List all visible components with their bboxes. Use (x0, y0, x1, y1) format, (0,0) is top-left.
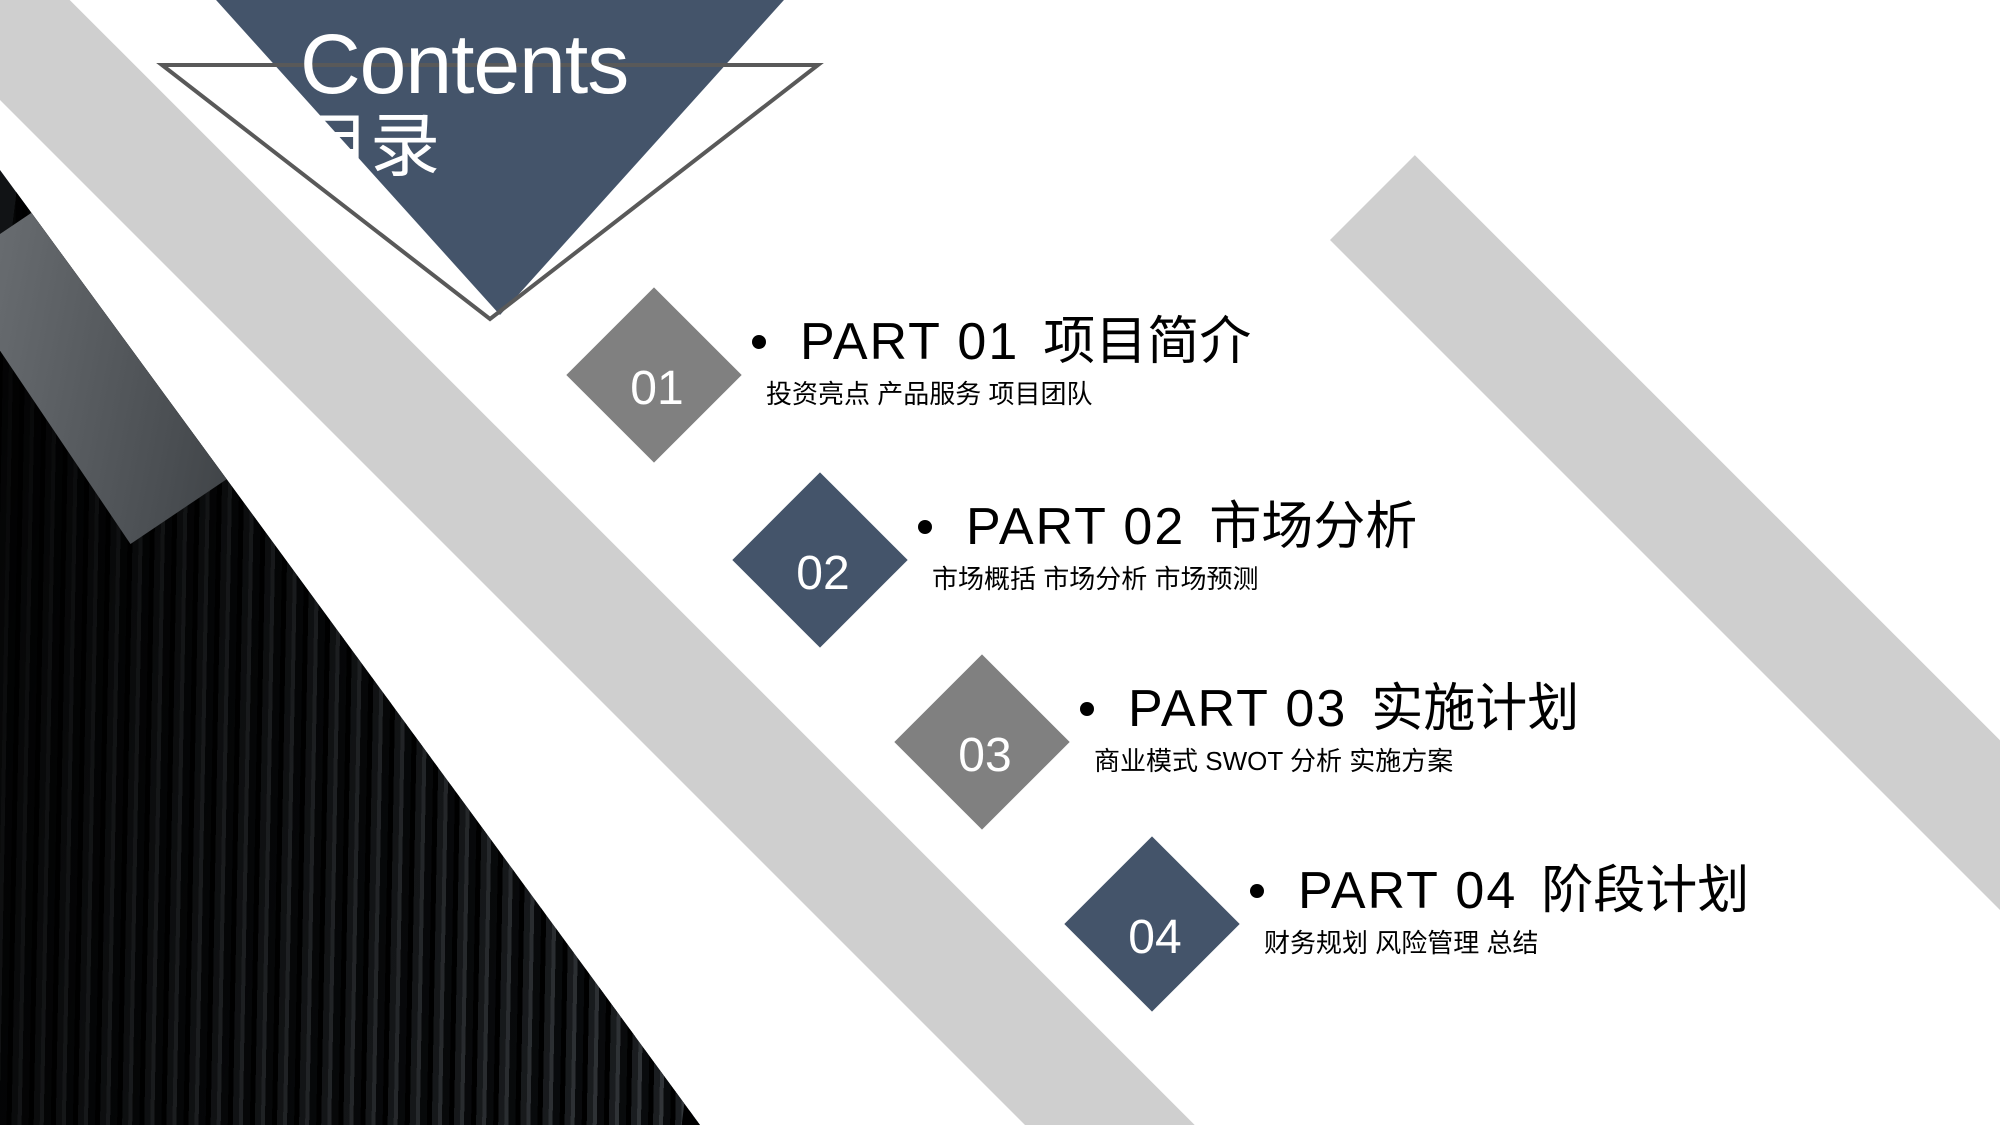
diamond-number-label: 03 (920, 680, 1044, 804)
part-label-03: PART 03 (1128, 680, 1347, 738)
part-label-04: PART 04 (1298, 862, 1517, 920)
content-row-2-subitems: 市场概括 市场分析 市场预测 (932, 562, 1417, 596)
number-diamond-04[interactable]: 04 (1064, 836, 1239, 1011)
content-row-1-title: PART 01 项目简介 (752, 313, 1251, 371)
number-diamond-01[interactable]: 01 (566, 287, 741, 462)
content-row-1-text: PART 01 项目简介 投资亮点 产品服务 项目团队 (752, 313, 1251, 411)
part-heading-cn-02: 市场分析 (1209, 498, 1417, 556)
slide-heading: Contents 目录 (300, 16, 860, 186)
presentation-slide: Contents 目录 01 PART 01 项目简介 投资亮点 产品服务 项目… (0, 0, 2000, 1125)
bullet-icon (1250, 884, 1264, 898)
bullet-icon (1080, 702, 1094, 716)
content-row-2[interactable]: 02 PART 02 市场分析 市场概括 市场分析 市场预测 (758, 498, 1417, 622)
part-heading-cn-04: 阶段计划 (1541, 862, 1749, 920)
content-row-4-title: PART 04 阶段计划 (1250, 862, 1749, 920)
part-label-02: PART 02 (966, 498, 1185, 556)
page-title-cn: 目录 (300, 106, 860, 186)
content-row-3[interactable]: 03 PART 03 实施计划 商业模式 SWOT 分析 实施方案 (920, 680, 1579, 804)
content-row-1[interactable]: 01 PART 01 项目简介 投资亮点 产品服务 项目团队 (592, 313, 1251, 437)
content-row-2-text: PART 02 市场分析 市场概括 市场分析 市场预测 (918, 498, 1417, 596)
number-diamond-03[interactable]: 03 (894, 654, 1069, 829)
diamond-number-label: 02 (758, 498, 882, 622)
part-heading-cn-03: 实施计划 (1371, 680, 1579, 738)
diamond-number-label: 01 (592, 313, 716, 437)
content-row-4-subitems: 财务规划 风险管理 总结 (1264, 926, 1749, 960)
number-diamond-02[interactable]: 02 (732, 472, 907, 647)
content-row-4-text: PART 04 阶段计划 财务规划 风险管理 总结 (1250, 862, 1749, 960)
bullet-icon (752, 335, 766, 349)
content-row-4[interactable]: 04 PART 04 阶段计划 财务规划 风险管理 总结 (1090, 862, 1749, 986)
content-row-1-subitems: 投资亮点 产品服务 项目团队 (766, 377, 1251, 411)
content-row-2-title: PART 02 市场分析 (918, 498, 1417, 556)
diamond-number-label: 04 (1090, 862, 1214, 986)
part-label-01: PART 01 (800, 313, 1019, 371)
content-row-3-title: PART 03 实施计划 (1080, 680, 1579, 738)
content-row-3-subitems: 商业模式 SWOT 分析 实施方案 (1094, 744, 1579, 778)
content-row-3-text: PART 03 实施计划 商业模式 SWOT 分析 实施方案 (1080, 680, 1579, 778)
part-heading-cn-01: 项目简介 (1043, 313, 1251, 371)
bullet-icon (918, 520, 932, 534)
page-title-en: Contents (300, 16, 860, 112)
